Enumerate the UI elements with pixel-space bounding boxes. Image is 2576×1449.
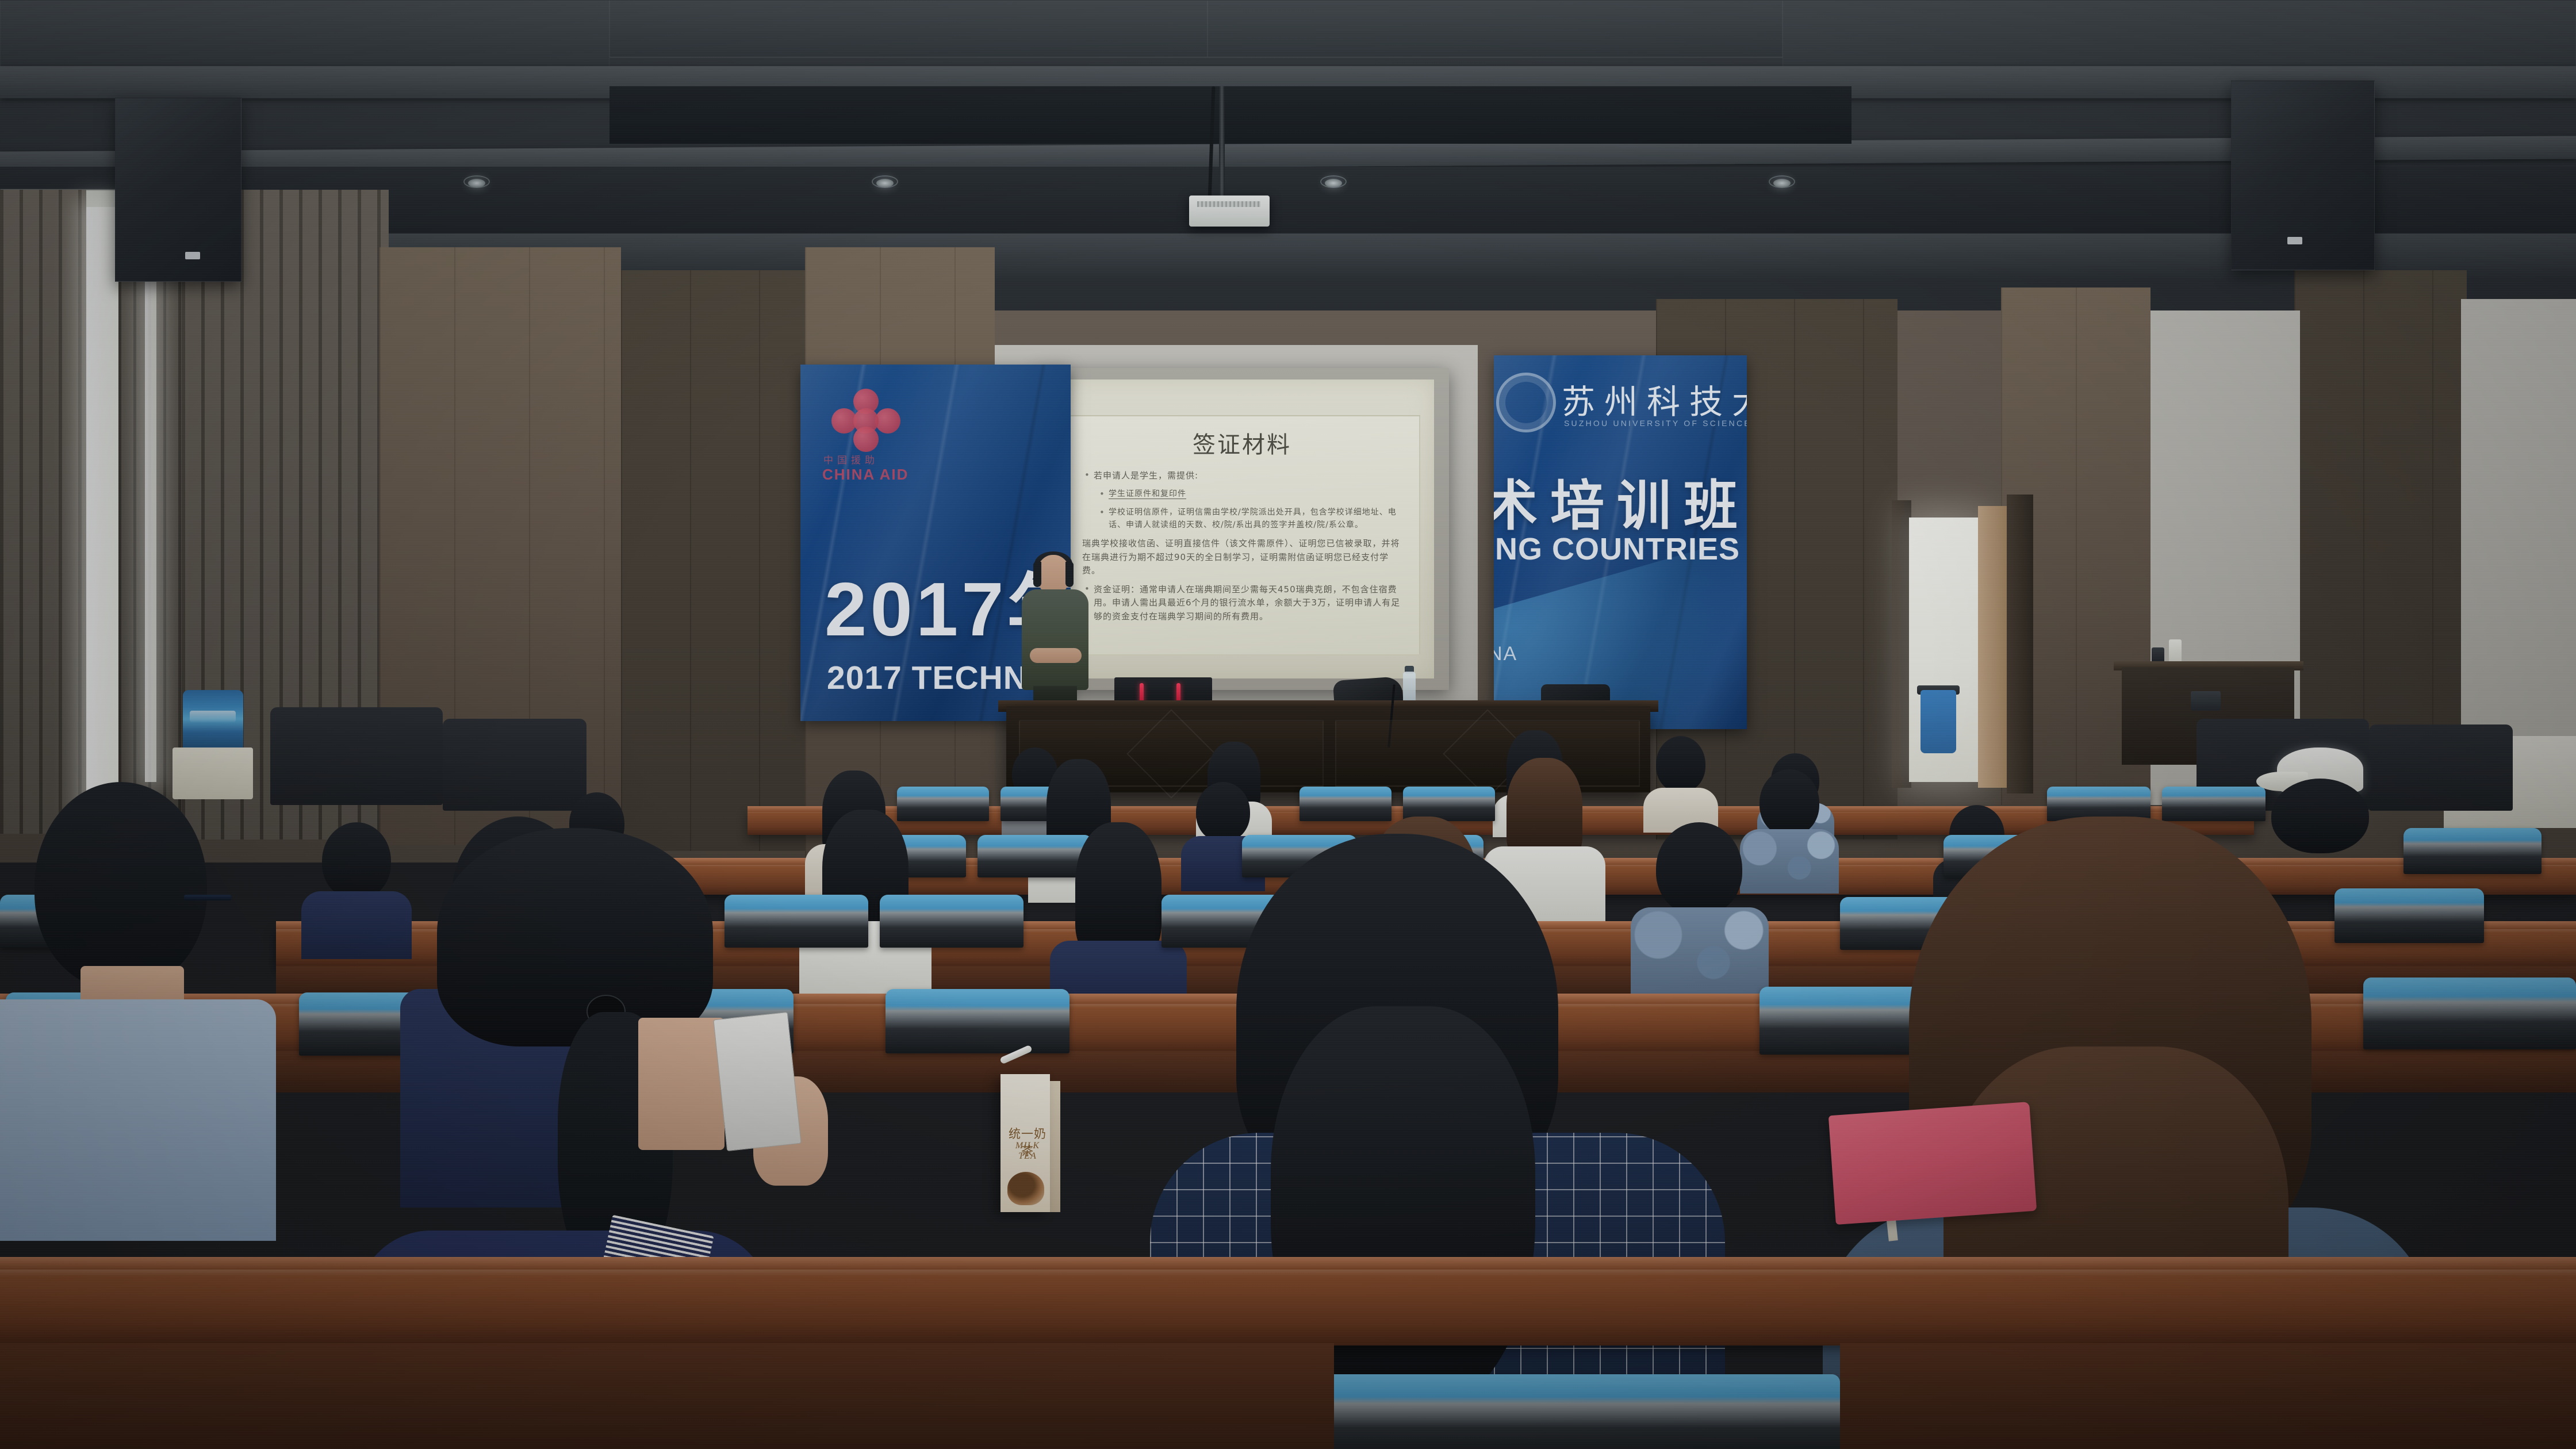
presenter-hair-left [1033,562,1041,587]
wall-panel-wood-dark [2294,270,2467,765]
right-wall-speaker [2231,80,2375,270]
slide-content: 签证材料 若申请人是学生，需提供: 学生证原件和复印件 学校证明信原件，证明信需… [1064,415,1420,655]
seat[interactable] [1403,787,1495,821]
university-name-cn: 苏州科技大学 [1562,375,1747,423]
head [322,822,391,899]
slide-bullet: 若申请人是学生，需提供: [1082,469,1402,482]
presenter-sweater [1022,589,1088,690]
projector-mount [1219,86,1225,198]
banner-country-en: NA [1494,643,1517,665]
milk-tea-carton: 统一奶茶 MILK TEA [1000,1074,1050,1212]
seat[interactable] [885,989,1069,1053]
hair-crown [437,828,713,1046]
slide-bullet: 学生证原件和复印件 [1097,488,1402,501]
banner-title-cn: 术培训班 [1494,462,1747,540]
lecture-hall-photo: 签证材料 若申请人是学生，需提供: 学生证原件和复印件 学校证明信原件，证明信需… [0,0,2576,1449]
seat[interactable] [897,787,989,821]
side-fixed-chairs[interactable] [270,707,443,805]
downlight [876,179,894,187]
right-banner: 苏州科技大学 SUZHOU UNIVERSITY OF SCIENCE AND … [1494,355,1747,729]
china-aid-logo [831,389,900,457]
curtain-left [0,190,86,834]
head [1656,736,1705,792]
front-seat[interactable] [1322,1374,1840,1449]
glasses [184,895,231,900]
presenter [1021,555,1090,707]
front-desk-edge [0,1265,2576,1345]
seat[interactable] [2363,977,2576,1049]
side-fixed-chairs[interactable] [443,719,586,811]
university-seal-logo [1496,373,1556,432]
red-notebook [1828,1102,2037,1225]
head [2271,779,2369,853]
speaker-label [185,252,200,259]
seat[interactable] [1299,787,1391,821]
white-cup [2169,639,2182,664]
door-leaf[interactable] [1978,506,2007,788]
china-aid-logo-en: CHINA AID [822,466,908,484]
wall-switch[interactable] [2191,691,2221,711]
wall-panel-wood-dark [621,270,805,851]
slide-title: 签证材料 [1080,432,1404,458]
torso [1631,907,1769,999]
seat[interactable] [977,835,1092,877]
ceiling-panel [0,0,609,69]
trash-bin [1920,690,1956,753]
head [1759,769,1819,836]
torso [301,891,412,959]
head [1196,782,1250,842]
side-fixed-chairs[interactable] [2369,724,2513,811]
presenter-hair-right [1065,562,1074,587]
head [34,782,207,989]
seat[interactable] [880,895,1023,948]
milk-tea-brand-en: MILK TEA [1005,1141,1050,1161]
seat[interactable] [2047,787,2150,821]
presenter-hands [1030,648,1082,663]
water-cooler-bottle [183,690,243,750]
slide-paragraph: 瑞典学校接收信函、证明直接信件（该文件需原件）、证明您已信被录取，并将在瑞典进行… [1082,537,1402,577]
smartphone[interactable] [713,1012,801,1151]
door-jamb-left [1892,500,1911,788]
seat[interactable] [2334,888,2484,943]
downlight [1773,179,1791,187]
seat[interactable] [724,895,868,948]
seat[interactable] [2403,828,2541,874]
left-wall-speaker [115,98,241,282]
speaker-label [2287,237,2302,244]
window-slit [145,207,156,782]
slide-bullet: 学校证明信原件，证明信需由学校/学院派出处开具，包含学校详细地址、电话、申请人就… [1097,507,1402,531]
torso [0,999,276,1241]
front-desk-panel [1840,1343,2576,1449]
door-jamb-right [2007,494,2033,793]
projector [1189,195,1270,227]
slide-body: 若申请人是学生，需提供: 学生证原件和复印件 学校证明信原件，证明信需由学校/学… [1080,469,1404,623]
head [1656,822,1742,915]
seat[interactable] [2162,787,2265,821]
torso [1740,829,1839,894]
downlight [468,179,485,187]
china-aid-logo-cn: 中国援助 [823,452,879,466]
water-cooler-base [172,747,253,799]
milk-tea-cup-image [1007,1172,1044,1205]
downlight [1325,179,1342,187]
window-slit [86,207,118,816]
wall-plaster [2461,299,2576,759]
ceiling-soffit-front [609,86,1851,144]
ceiling-panel [609,0,1207,57]
front-desk-panel [0,1343,1334,1449]
front-desk-lip [0,1257,2576,1270]
hair [1075,822,1161,960]
banner-title-en: ING COUNTRIES [1494,531,1740,567]
slide-bullet: 资金证明：通常申请人在瑞典期间至少需每天450瑞典克朗，不包含住宿费用。申请人需… [1082,583,1402,623]
university-name-en: SUZHOU UNIVERSITY OF SCIENCE AND TECHNOL… [1564,419,1747,428]
neck [638,1018,724,1150]
ceiling-panel [1207,0,1782,57]
